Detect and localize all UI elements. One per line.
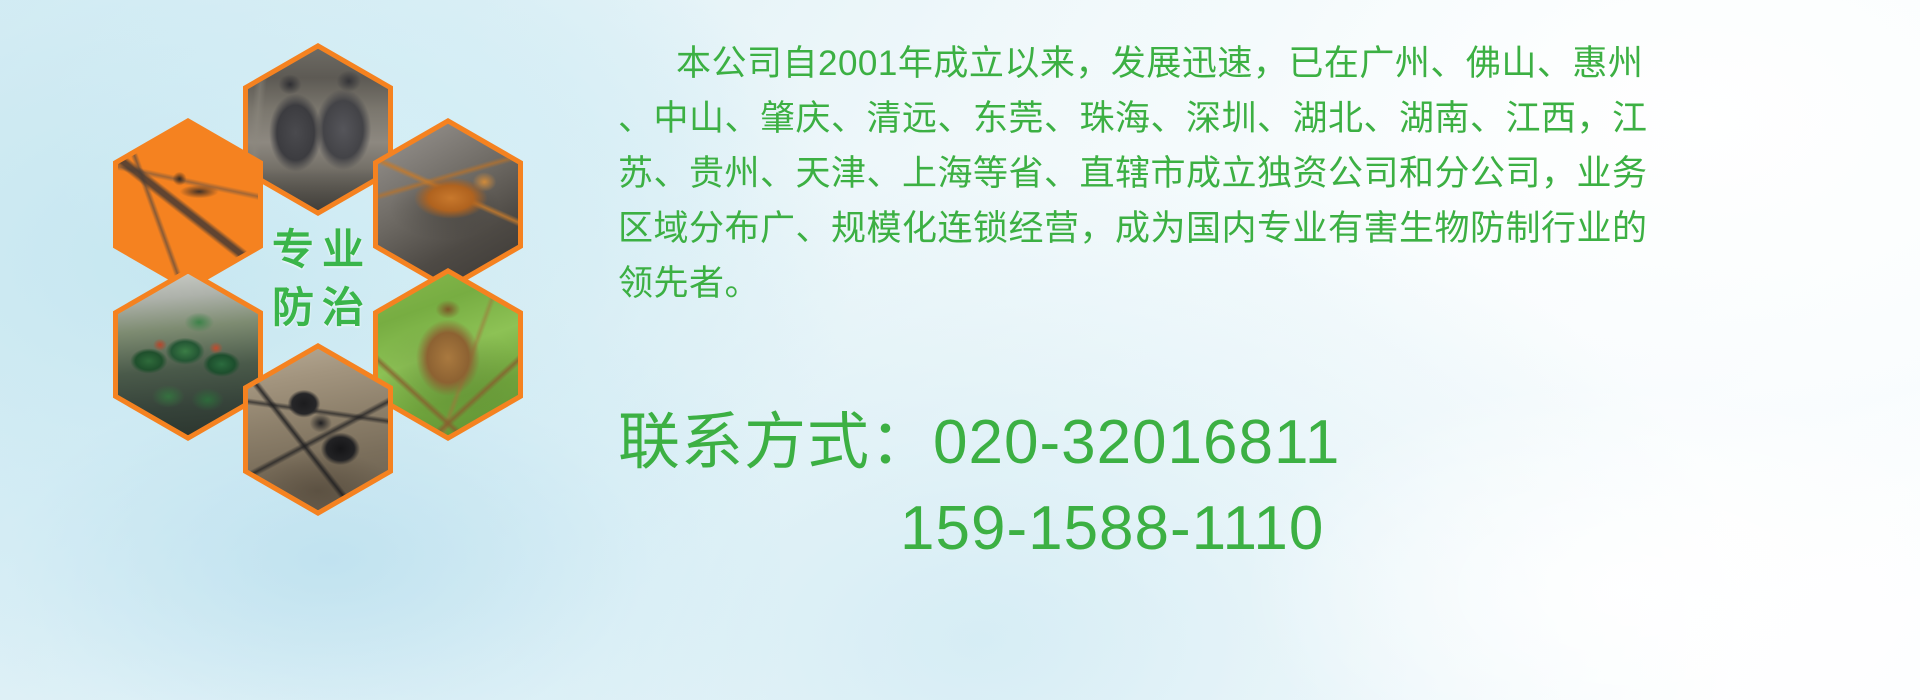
contact-secondary-phone[interactable]: 159-1588-1110 — [618, 486, 1908, 572]
center-slogan-line-1: 专业 — [264, 224, 372, 277]
description-line-2: 、中山、肇庆、清远、东莞、珠海、深圳、湖北、湖南、江西，江 — [618, 91, 1903, 146]
hex-photo-stinkbug — [373, 268, 523, 441]
center-slogan: 专业 防治 — [248, 199, 388, 360]
center-slogan-line-2: 防治 — [264, 282, 372, 335]
ant-image — [248, 349, 388, 510]
hex-photo-stinkbug-frame — [378, 274, 518, 435]
description-line-5: 领先者。 — [618, 256, 1903, 311]
hex-photo-ant — [243, 343, 393, 516]
hex-center-label-frame: 专业 防治 — [248, 199, 388, 360]
description-line-1: 本公司自2001年成立以来，发展迅速，已在广州、佛山、惠州 — [618, 36, 1903, 91]
hex-photo-flies — [113, 268, 263, 441]
hex-photo-cockroach-frame — [378, 124, 518, 285]
description-line-3: 苏、贵州、天津、上海等省、直辖市成立独资公司和分公司，业务 — [618, 146, 1903, 201]
contact-primary-phone[interactable]: 联系方式：020-32016811 — [618, 400, 1908, 486]
mosquito-image — [118, 124, 258, 285]
flies-image — [118, 274, 258, 435]
contact-info: 联系方式：020-32016811 159-1588-1110 — [618, 400, 1908, 572]
cockroach-image — [378, 124, 518, 285]
hex-center-label: 专业 防治 — [243, 193, 393, 366]
stinkbug-image — [378, 274, 518, 435]
promo-banner: 专业 防治 本公司自2001年成立以来，发展迅速，已在广州、佛山、惠州 、中山、… — [0, 0, 1920, 700]
hex-photo-rats-frame — [248, 49, 388, 210]
hex-photo-cockroach — [373, 118, 523, 291]
hex-photo-flies-frame — [118, 274, 258, 435]
hex-photo-rats — [243, 43, 393, 216]
hex-photo-ant-frame — [248, 349, 388, 510]
rats-image — [248, 49, 388, 210]
hex-photo-mosquito — [113, 118, 263, 291]
hex-photo-mosquito-frame — [118, 124, 258, 285]
company-description: 本公司自2001年成立以来，发展迅速，已在广州、佛山、惠州 、中山、肇庆、清远、… — [618, 36, 1903, 311]
description-line-4: 区域分布广、规模化连锁经营，成为国内专业有害生物防制行业的 — [618, 201, 1903, 256]
hexagon-photo-cluster: 专业 防治 — [95, 10, 595, 570]
